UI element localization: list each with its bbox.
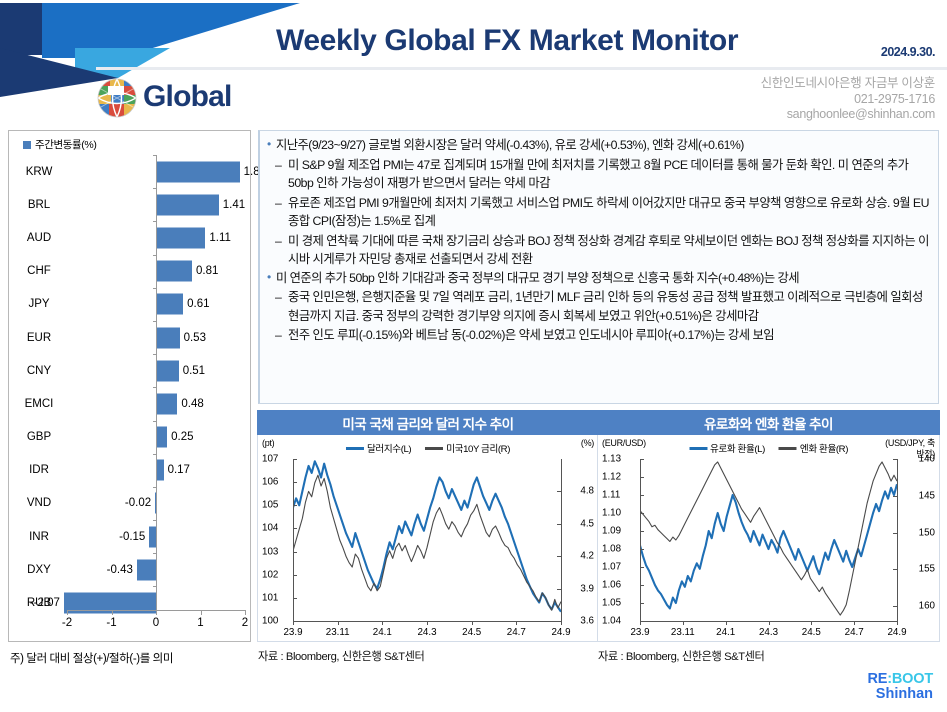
weekly-fx-change-chart: 주간변동률(%) KRW1.88BRL1.41AUD1.11CHF0.81JPY… [8, 130, 251, 642]
y-axis-tick-left [293, 528, 297, 529]
commentary-bullet: 미 연준의 추가 50bp 인하 기대감과 중국 정부의 대규모 경기 부양 정… [266, 270, 930, 288]
legend-item-dollar-index: 달러지수(L) [346, 441, 411, 455]
y-axis-tick-left [293, 482, 297, 483]
x-axis-tick-label: 2 [242, 617, 248, 629]
legend-item-eur: 유로화 환율(L) [689, 441, 765, 455]
commentary-bullet: 지난주(9/23~9/27) 글로벌 외환시장은 달러 약세(-0.43%), … [266, 137, 930, 155]
bar-chart-row: IDR0.17 [9, 454, 252, 487]
y-axis-tick-right [557, 556, 561, 557]
report-date: 2024.9.30. [881, 45, 935, 59]
x-axis-tick [427, 621, 428, 625]
bar-category-label: VND [15, 497, 63, 509]
bar-category-label: DXY [15, 564, 63, 576]
bar-chart-legend: 주간변동률(%) [23, 137, 96, 152]
page-title: Weekly Global FX Market Monitor [276, 24, 738, 58]
y-axis-tick-label-left: 106 [262, 477, 278, 488]
y-axis-tick-label-right: 140 [919, 454, 935, 465]
legend-label-jpy: 엔화 환율(R) [800, 441, 848, 455]
bar-chart-row: BRL1.41 [9, 188, 252, 221]
y-axis-tick-label-left: 1.11 [602, 490, 620, 501]
y-axis-tick-label-right: 3.6 [580, 616, 594, 627]
bar-value-label: -0.15 [119, 531, 145, 543]
bar-chart-note: 주) 달러 대비 절상(+)/절하(-)를 의미 [10, 650, 173, 666]
bar-category-label: EMCI [15, 398, 63, 410]
bar-value-label: 1.11 [209, 232, 231, 244]
x-axis-tick-label: 24.1 [373, 627, 392, 638]
bar-rect [156, 393, 177, 414]
y-axis-tick-label-right: 160 [919, 601, 935, 612]
y-axis-tick-right [557, 524, 561, 525]
legend-item-jpy: 엔화 환율(R) [779, 441, 848, 455]
x-axis-tick-label: -2 [62, 617, 72, 629]
contact-name: 신한인도네시아은행 자금부 이상훈 [761, 76, 935, 92]
bar-chart-row: DXY-0.43 [9, 553, 252, 586]
usd-index-vs-ust10y-card: 미국 국채 금리와 달러 지수 추이 (pt) (%) 달러지수(L) 미국10… [257, 410, 599, 642]
x-axis-tick [811, 621, 812, 625]
bar-rect [156, 161, 240, 182]
chart-body-usd: (pt) (%) 달러지수(L) 미국10Y 금리(R) 10010110210… [257, 435, 599, 642]
chart-unit-left-usd: (pt) [262, 438, 274, 448]
bar-category-label: INR [15, 531, 63, 543]
y-axis-tick-label-left: 104 [262, 523, 278, 534]
y-axis-tick-label-right: 155 [919, 564, 935, 575]
bar-category-label: GBP [15, 431, 63, 443]
y-axis-tick-label-right: 4.2 [580, 551, 594, 562]
bar-rect [156, 360, 179, 381]
legend-swatch-icon [23, 141, 31, 149]
y-axis-tick-label-left: 103 [262, 546, 278, 557]
x-axis-tick [338, 621, 339, 625]
commentary-sub-bullet: 미 S&P 9월 제조업 PMI는 47로 집계되며 15개월 만에 최저치를 … [266, 156, 930, 193]
y-axis-tick-left [640, 477, 644, 478]
x-axis-tick-label: 23.9 [283, 627, 302, 638]
x-axis-tick [561, 621, 562, 625]
y-axis-tick-right [557, 589, 561, 590]
x-axis-tick [293, 621, 294, 625]
chart-unit-left-fx: (EUR/USD) [602, 438, 646, 448]
y-axis-tick-label-right: 145 [919, 490, 935, 501]
bar-value-label: -0.02 [125, 497, 151, 509]
bar-zero-axis [156, 155, 157, 611]
x-axis-tick-label: 23.11 [671, 627, 695, 638]
x-axis-tick-label: 24.3 [759, 627, 778, 638]
bar-chart-row: CNY0.51 [9, 354, 252, 387]
x-axis-tick-label: 23.11 [326, 627, 350, 638]
legend-item-ust10y: 미국10Y 금리(R) [425, 441, 510, 455]
y-axis-tick-label-left: 102 [262, 569, 278, 580]
logo-re: RE [868, 671, 888, 687]
y-axis-tick-label-left: 1.13 [602, 454, 621, 465]
bar-value-label: 1.41 [223, 199, 245, 211]
x-axis-tick [472, 621, 473, 625]
legend-label-ust10y: 미국10Y 금리(R) [446, 441, 510, 455]
eurusd-vs-usdjpy-card: 유로화와 엔화 환율 추이 (EUR/USD) (USD/JPY, 축반전) 유… [597, 410, 940, 642]
x-axis-tick [382, 621, 383, 625]
x-axis-tick [769, 621, 770, 625]
y-axis-tick-label-left: 1.12 [602, 472, 621, 483]
y-axis-tick-right [557, 491, 561, 492]
bar-chart-x-axis: -2-1012 [67, 610, 245, 638]
commentary-sub-bullet: 유로존 제조업 PMI 9개월만에 최저치 기록했고 서비스업 PMI도 하락세… [266, 194, 930, 231]
chart-unit-right-usd: (%) [581, 438, 594, 449]
x-axis-tick [245, 610, 246, 615]
bar-chart-row: INR-0.15 [9, 520, 252, 553]
x-axis-tick-label: 24.9 [551, 627, 570, 638]
x-axis-tick [640, 621, 641, 625]
bar-rect [137, 559, 156, 580]
y-axis-tick-label-left: 1.06 [602, 580, 621, 591]
header-divider [96, 67, 947, 70]
legend-label-dollar-index: 달러지수(L) [367, 441, 411, 455]
commentary-sub-bullet: 전주 인도 루피(-0.15%)와 베트남 동(-0.02%)은 약세 보였고 … [266, 326, 930, 345]
y-axis-tick-right [893, 533, 897, 534]
bar-category-label: AUD [15, 232, 63, 244]
chart-source-fx: 자료 : Bloomberg, 신한은행 S&T센터 [598, 648, 764, 664]
x-axis-tick [683, 621, 684, 625]
legend-label-eur: 유로화 환율(L) [710, 441, 765, 455]
bar-rect [156, 227, 205, 248]
bar-value-label: 0.53 [184, 332, 206, 344]
y-axis-tick-label-left: 1.04 [602, 616, 621, 627]
legend-line-blue-icon [689, 447, 707, 450]
bar-rect [156, 460, 164, 481]
bar-chart-row: CHF0.81 [9, 255, 252, 288]
bar-chart-row: GBP0.25 [9, 421, 252, 454]
legend-line-black-icon [425, 447, 443, 450]
x-axis-tick-label: 23.9 [630, 627, 649, 638]
x-axis-tick [112, 610, 113, 615]
logo-shinhan: Shinhan [868, 687, 933, 702]
y-axis-tick-label-right: 3.9 [580, 583, 594, 594]
x-axis-tick-label: 24.5 [462, 627, 481, 638]
bar-chart-row: JPY0.61 [9, 288, 252, 321]
bar-value-label: 0.81 [196, 265, 218, 277]
y-axis-tick-label-left: 1.09 [602, 526, 621, 537]
y-axis-tick-left [293, 598, 297, 599]
chart-title-fx: 유로화와 엔화 환율 추이 [597, 410, 940, 435]
bar-value-label: 0.17 [168, 464, 190, 476]
x-axis-tick [854, 621, 855, 625]
bar-rect [156, 194, 219, 215]
y-axis-tick-label-left: 1.05 [602, 598, 621, 609]
y-axis-tick-label-right: 4.5 [580, 518, 594, 529]
bar-value-label: 0.51 [183, 365, 205, 377]
axis-spine-left [640, 459, 641, 621]
chart-plot-fx [640, 459, 897, 621]
y-axis-tick-left [293, 459, 297, 460]
bar-rect [156, 327, 180, 348]
x-axis-tick-label: 24.5 [802, 627, 821, 638]
bar-rect [156, 427, 167, 448]
y-axis-tick-label-left: 100 [262, 616, 278, 627]
bar-chart-plot-area: KRW1.88BRL1.41AUD1.11CHF0.81JPY0.61EUR0.… [9, 155, 252, 610]
commentary-sub-bullet: 중국 인민은행, 은행지준율 및 7일 역레포 금리, 1년만기 MLF 금리 … [266, 288, 930, 325]
legend-line-blue-icon [346, 447, 364, 450]
commentary-panel: 지난주(9/23~9/27) 글로벌 외환시장은 달러 약세(-0.43%), … [258, 130, 939, 404]
page-header: Weekly Global FX Market Monitor 2024.9.3… [0, 0, 947, 125]
y-axis-tick-left [640, 585, 644, 586]
bar-category-label: KRW [15, 166, 63, 178]
bar-value-label: 0.25 [171, 431, 193, 443]
bar-category-label: CNY [15, 365, 63, 377]
y-axis-tick-left [640, 603, 644, 604]
bar-chart-row: AUD1.11 [9, 221, 252, 254]
x-axis-tick-label: 24.1 [716, 627, 735, 638]
y-axis-tick-left [640, 513, 644, 514]
bar-chart-row: EMCI0.48 [9, 387, 252, 420]
bar-category-label: JPY [15, 298, 63, 310]
x-axis-tick-label: -1 [106, 617, 116, 629]
author-contact: 신한인도네시아은행 자금부 이상훈 021-2975-1716 sanghoon… [761, 76, 935, 123]
commentary-sub-bullet: 미 경제 연착륙 기대에 따른 국채 장기금리 상승과 BOJ 정책 정상화 경… [266, 232, 930, 269]
x-axis-tick-label: 24.7 [845, 627, 864, 638]
chart-source-usd: 자료 : Bloomberg, 신한은행 S&T센터 [258, 648, 424, 664]
y-axis-tick-right [893, 606, 897, 607]
bar-chart-row: EUR0.53 [9, 321, 252, 354]
x-axis-tick-label: 24.7 [507, 627, 526, 638]
x-axis-tick [897, 621, 898, 625]
y-axis-tick-left [640, 549, 644, 550]
y-axis-tick-left [293, 552, 297, 553]
x-axis-tick-label: 0 [153, 617, 159, 629]
y-axis-tick-label-left: 105 [262, 500, 278, 511]
section-label: Global [143, 80, 232, 114]
chart-plot-usd [293, 459, 561, 621]
bar-value-label: --2.07 [30, 597, 60, 609]
bar-rect [156, 294, 183, 315]
y-axis-tick-left [640, 531, 644, 532]
logo-boot: BOOT [892, 671, 933, 687]
axis-spine-right [561, 459, 562, 621]
bar-chart-row: KRW1.88 [9, 155, 252, 188]
y-axis-tick-left [640, 567, 644, 568]
bar-category-label: IDR [15, 464, 63, 476]
contact-email: sanghoonlee@shinhan.com [761, 107, 935, 123]
series-line-left [293, 461, 561, 611]
y-axis-tick-label-right: 4.8 [580, 486, 594, 497]
y-axis-tick-label-left: 1.10 [602, 508, 621, 519]
bar-category-label: CHF [15, 265, 63, 277]
x-axis-tick [67, 610, 68, 615]
y-axis-tick-left [293, 505, 297, 506]
y-axis-tick-label-left: 107 [262, 454, 278, 465]
x-axis-tick [201, 610, 202, 615]
y-axis-tick-left [640, 459, 644, 460]
legend-label: 주간변동률(%) [35, 137, 96, 152]
chart-legend-fx: 유로화 환율(L) 엔화 환율(R) [689, 441, 848, 455]
bar-category-label: BRL [15, 199, 63, 211]
x-axis-tick-label: 24.3 [417, 627, 436, 638]
globe-flags-icon [96, 77, 138, 119]
y-axis-tick-label-left: 1.08 [602, 544, 621, 555]
y-axis-tick-label-right: 150 [919, 527, 935, 538]
bar-rect [149, 526, 156, 547]
y-axis-tick-label-left: 101 [262, 592, 278, 603]
contact-phone: 021-2975-1716 [761, 92, 935, 108]
bar-value-label: 0.61 [187, 298, 209, 310]
legend-line-black-icon [779, 447, 797, 450]
axis-spine-right [897, 459, 898, 621]
x-axis-tick [516, 621, 517, 625]
x-axis-tick-label: 1 [197, 617, 203, 629]
bar-value-label: -0.43 [107, 564, 133, 576]
chart-legend-usd: 달러지수(L) 미국10Y 금리(R) [346, 441, 510, 455]
y-axis-tick-label-left: 1.07 [602, 562, 621, 573]
bar-value-label: 0.48 [181, 398, 203, 410]
y-axis-tick-left [293, 575, 297, 576]
chart-title-usd: 미국 국채 금리와 달러 지수 추이 [257, 410, 599, 435]
reboot-logo-top: RE:BOOT [868, 672, 933, 687]
axis-spine-left [293, 459, 294, 621]
chart-body-fx: (EUR/USD) (USD/JPY, 축반전) 유로화 환율(L) 엔화 환율… [597, 435, 940, 642]
x-axis-tick-label: 24.9 [887, 627, 906, 638]
reboot-shinhan-logo: RE:BOOT Shinhan [868, 672, 933, 702]
x-axis-tick [726, 621, 727, 625]
y-axis-tick-left [640, 495, 644, 496]
y-axis-tick-right [893, 459, 897, 460]
y-axis-tick-right [893, 496, 897, 497]
y-axis-tick-right [893, 569, 897, 570]
bar-chart-row: VND-0.02 [9, 487, 252, 520]
bar-category-label: EUR [15, 332, 63, 344]
bar-rect [156, 261, 192, 282]
